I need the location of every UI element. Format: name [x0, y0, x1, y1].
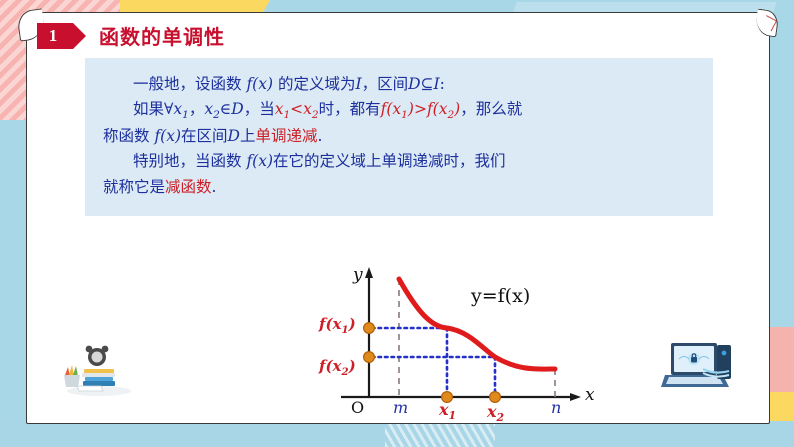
def1-fx: f(x): [246, 75, 273, 93]
graph-svg: [323, 265, 613, 430]
def2-less-than: <: [290, 100, 303, 118]
x-axis-label: x: [585, 385, 595, 405]
def5-period: .: [212, 178, 217, 196]
label-x1: x1: [439, 400, 456, 422]
section-number-label: 1: [49, 26, 58, 46]
def4-b: 在它的定义域上单调递减时，我们: [273, 152, 506, 170]
page-title: 函数的单调性: [99, 21, 225, 50]
label-fx2: f(x2): [319, 357, 356, 378]
book-3-icon: [85, 377, 113, 381]
page-curl-top-right-icon: [754, 9, 779, 38]
definition-line-2: 如果∀x1，x2∈D，当x1<x2时，都有f(x1)>f(x2)，那么就: [103, 97, 695, 124]
clock-face-icon: [92, 352, 103, 363]
definition-box: 一般地，设函数 f(x) 的定义域为I，区间D⊆I: 如果∀x1，x2∈D，当x…: [85, 58, 713, 216]
function-graph: y x O y=f(x) f(x1) f(x2) m x1 x2 n: [323, 265, 613, 430]
point-x2: [490, 392, 501, 403]
label-x2: x2: [487, 402, 504, 424]
point-fx2: [364, 352, 375, 363]
def3-period: .: [318, 127, 323, 145]
def2-D: D: [231, 100, 243, 118]
book-4-icon: [83, 381, 115, 386]
server-light-icon: [722, 351, 727, 356]
def4-a: 特别地，当函数: [133, 152, 246, 170]
def2-greater-than: >: [414, 100, 427, 118]
def3-D: D: [228, 127, 240, 145]
def4-fx: f(x): [246, 152, 273, 170]
def2-c: ，当: [244, 100, 275, 118]
clock-bell-right-icon: [102, 346, 109, 353]
def2-red-fx1: f(x1): [381, 100, 414, 118]
def2-in-symbol: ∈: [220, 100, 231, 118]
definition-line-4: 特别地，当函数 f(x)在它的定义域上单调递减时，我们: [103, 149, 695, 174]
desk-supplies-illustration: [59, 339, 133, 397]
page-curl-accent-icon: [761, 15, 777, 31]
label-m: m: [393, 398, 408, 417]
def5-highlight-decreasing-function: 减函数: [165, 178, 212, 196]
clock-bell-left-icon: [86, 346, 93, 353]
laptop-keyboard-icon: [666, 377, 723, 384]
def3-fx: f(x): [154, 127, 181, 145]
curve-equation-label: y=f(x): [471, 285, 530, 307]
pencil-3-icon: [73, 366, 78, 376]
def1-colon: :: [440, 75, 445, 93]
definition-line-3: 称函数 f(x)在区间D上单调递减.: [103, 124, 695, 149]
def1-subset-symbol: ⊆: [421, 75, 434, 93]
definition-line-1: 一般地，设函数 f(x) 的定义域为I，区间D⊆I:: [103, 72, 695, 97]
def2-x1: x1: [173, 100, 188, 118]
x-axis-arrow-icon: [570, 393, 581, 401]
def2-a: 如果∀: [133, 100, 173, 118]
def3-highlight-decreasing: 单调递减: [255, 127, 317, 145]
def1-interval-D: D: [408, 75, 420, 93]
def2-comma: ，: [189, 100, 205, 118]
origin-label: O: [351, 398, 364, 417]
pencil-cup-icon: [64, 375, 80, 387]
def3-b: 在区间: [181, 127, 228, 145]
def2-red-x2: x2: [303, 100, 318, 118]
def3-a: 称函数: [103, 127, 154, 145]
def2-e: ，那么就: [460, 100, 522, 118]
notebook-icon: [77, 386, 103, 391]
label-fx1: f(x1): [319, 315, 356, 336]
book-2-icon: [82, 373, 115, 377]
def1-mid2: ，区间: [362, 75, 409, 93]
def2-red-x1: x1: [275, 100, 290, 118]
book-1-icon: [84, 369, 114, 373]
def2-red-fx2: f(x2): [427, 100, 460, 118]
slide-title-row: 1 函数的单调性: [37, 21, 225, 50]
point-fx1: [364, 323, 375, 334]
definition-line-5: 就称它是减函数.: [103, 175, 695, 200]
y-axis-label: y: [353, 265, 363, 285]
page-card: 1 函数的单调性 一般地，设函数 f(x) 的定义域为I，区间D⊆I: 如果∀x…: [26, 12, 770, 424]
def3-c: 上: [240, 127, 256, 145]
server-tower-icon: [717, 345, 731, 379]
def5-a: 就称它是: [103, 178, 165, 196]
section-number-badge: 1: [37, 23, 73, 49]
def1-mid: 的定义域为: [273, 75, 355, 93]
label-n: n: [551, 398, 561, 417]
def1-prefix: 一般地，设函数: [133, 75, 246, 93]
def2-d: 时，都有: [319, 100, 381, 118]
lock-body-icon: [691, 357, 697, 363]
def2-x2: x2: [204, 100, 219, 118]
slide-canvas: 1 函数的单调性 一般地，设函数 f(x) 的定义域为I，区间D⊆I: 如果∀x…: [0, 0, 794, 447]
y-axis-arrow-icon: [365, 267, 373, 278]
laptop-security-illustration: [659, 339, 739, 397]
